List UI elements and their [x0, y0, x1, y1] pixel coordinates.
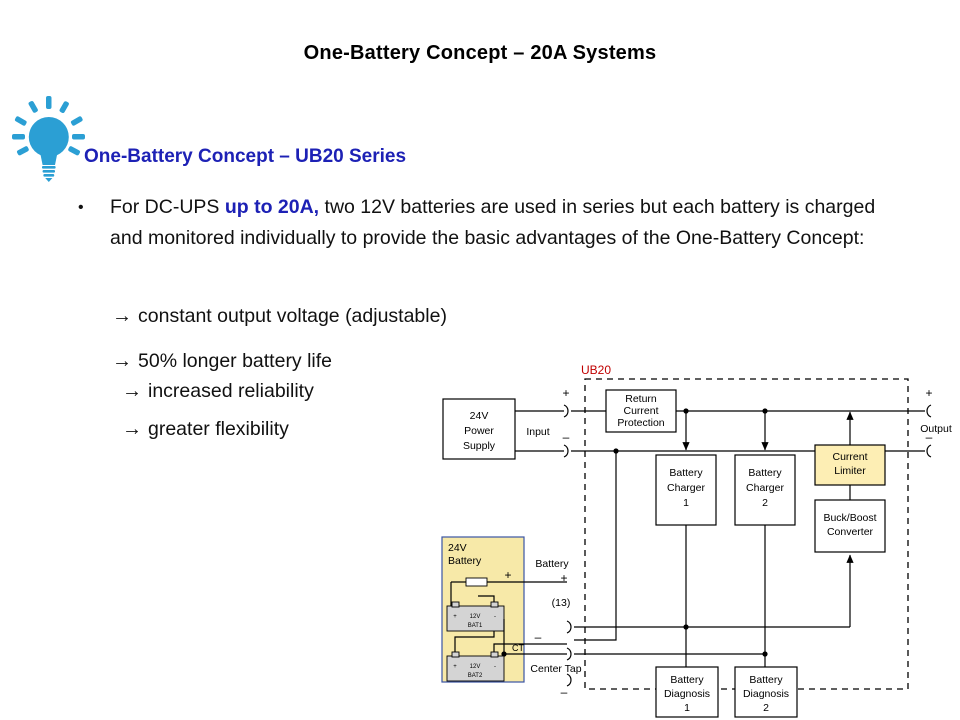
battery-panel-line2: Battery	[448, 555, 482, 567]
rcp-line2: Current	[623, 405, 658, 417]
arrow-bullet-label-1: 50% longer battery life	[138, 350, 332, 372]
cell2-minus: -	[494, 664, 496, 670]
lightbulb-icon	[10, 96, 88, 182]
cell1-name: BAT1	[468, 623, 483, 629]
diagnosis2-line1: Battery	[749, 674, 783, 686]
center-tap-label: Center Tap	[530, 663, 581, 675]
arrow-bullet-label-3: greater flexibility	[148, 418, 289, 440]
arrow-bullet-0: →constant output voltage (adjustable)	[112, 305, 447, 328]
output-plus-label: +	[925, 386, 932, 400]
charger1-line3: 1	[683, 497, 689, 509]
section-heading: One-Battery Concept – UB20 Series	[84, 146, 406, 168]
diagnosis2-line3: 2	[763, 702, 769, 714]
cell2-name: BAT2	[468, 673, 483, 679]
battery-terminal-label: Battery	[535, 558, 569, 570]
ub20-block-diagram: UB20 24V Power Supply + – Input Return C…	[430, 352, 960, 720]
arrow-glyph-icon: →	[122, 380, 148, 403]
current-limiter-line1: Current	[832, 451, 867, 463]
slide-title: One-Battery Concept – 20A Systems	[0, 42, 960, 65]
cell1-minus: -	[494, 614, 496, 620]
charger2-line1: Battery	[748, 467, 782, 479]
input-minus-label: –	[563, 430, 570, 444]
rcp-line1: Return	[625, 393, 657, 405]
cell1-plus: +	[453, 614, 457, 620]
body-bullet-paragraph: • For DC-UPS up to 20A, two 12V batterie…	[78, 192, 908, 254]
battery-cell-1-neg-terminal	[491, 602, 498, 607]
arrow-bullet-2: →increased reliability	[122, 380, 314, 403]
panel-plus-label: +	[504, 568, 511, 582]
battery-panel-line1: 24V	[448, 542, 467, 554]
cell1-volt: 12V	[470, 614, 481, 620]
power-supply-line3: Supply	[463, 440, 496, 452]
arrow-glyph-icon: →	[122, 418, 148, 441]
power-supply-line1: 24V	[470, 410, 489, 422]
diagnosis1-line1: Battery	[670, 674, 704, 686]
battery-cell-2-pos-terminal	[452, 652, 459, 657]
rcp-line3: Protection	[617, 417, 664, 429]
charger2-line2: Charger	[746, 482, 784, 494]
body-text-highlight: up to 20A,	[225, 196, 319, 218]
battery-terminal-plus: +	[560, 571, 567, 585]
buck-boost-line2: Converter	[827, 526, 874, 538]
diagnosis2-line2: Diagnosis	[743, 688, 789, 700]
body-text-pre: For DC-UPS	[110, 196, 225, 218]
charger1-line2: Charger	[667, 482, 705, 494]
diagnosis1-line3: 1	[684, 702, 690, 714]
arrow-glyph-icon: →	[112, 305, 138, 328]
arrow-bullet-1: →50% longer battery life	[112, 350, 332, 373]
input-plus-label: +	[562, 386, 569, 400]
bullet-marker: •	[78, 192, 84, 223]
output-label: Output	[920, 423, 952, 435]
charger1-line1: Battery	[669, 467, 703, 479]
charger2-line3: 2	[762, 497, 768, 509]
arrow-bullet-3: →greater flexibility	[122, 418, 289, 441]
buck-boost-line1: Buck/Boost	[823, 512, 876, 524]
battery-cell-1-pos-terminal	[452, 602, 459, 607]
cell2-plus: +	[453, 664, 457, 670]
diagnosis1-line2: Diagnosis	[664, 688, 710, 700]
panel-minus-label: –	[535, 630, 542, 644]
battery-terminal-minus: –	[561, 685, 568, 699]
power-supply-line2: Power	[464, 425, 494, 437]
arrow-bullet-label-2: increased reliability	[148, 380, 314, 402]
cell2-volt: 12V	[470, 664, 481, 670]
battery-cell-2-neg-terminal	[491, 652, 498, 657]
arrow-glyph-icon: →	[112, 350, 138, 373]
current-limiter-line2: Limiter	[834, 465, 866, 477]
fuse-symbol	[466, 578, 487, 586]
ub20-enclosure-label: UB20	[581, 363, 611, 377]
input-label: Input	[526, 426, 549, 438]
arrow-bullet-label-0: constant output voltage (adjustable)	[138, 305, 447, 327]
center-tap-note: (13)	[552, 597, 571, 609]
